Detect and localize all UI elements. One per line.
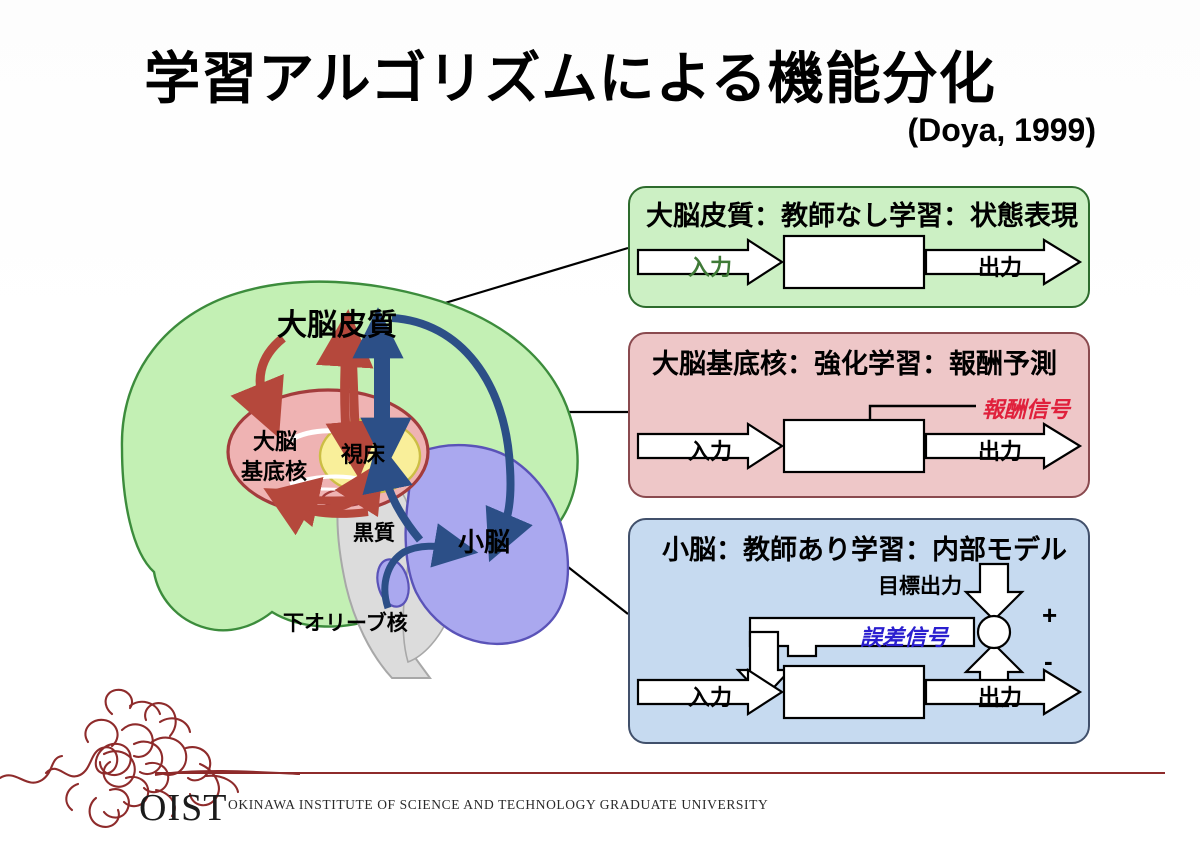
oist-logo-word: OIST xyxy=(139,786,227,830)
oist-squiggle-logo-icon xyxy=(0,0,1200,848)
oist-tagline: OKINAWA INSTITUTE OF SCIENCE AND TECHNOL… xyxy=(228,797,768,813)
slide-canvas: 学習アルゴリズムによる機能分化 (Doya, 1999) xyxy=(0,0,1200,848)
